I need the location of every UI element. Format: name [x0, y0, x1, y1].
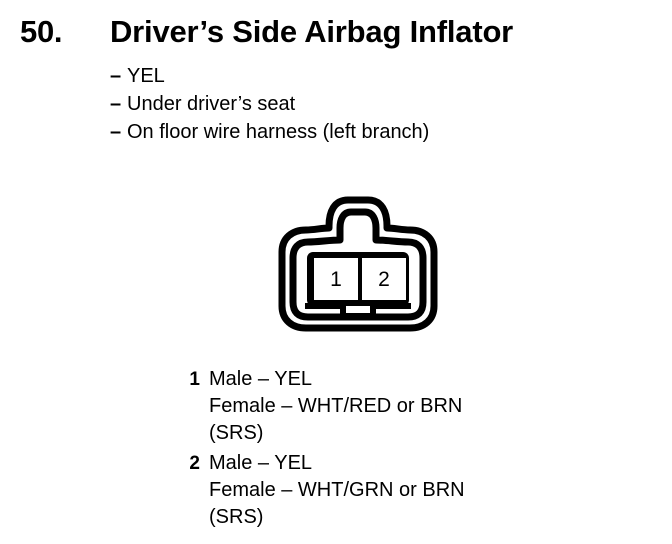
bullet-item: – YEL [110, 62, 630, 90]
page-header: 50. Driver’s Side Airbag Inflator [0, 12, 672, 56]
legend-line-female: Female – WHT/GRN or BRN [209, 477, 642, 504]
pin-number-1: 1 [330, 268, 342, 291]
bullet-item-label: On floor wire harness (left branch) [127, 118, 429, 146]
legend-line-male: Male – YEL [209, 366, 642, 393]
bullet-item: – Under driver’s seat [110, 90, 630, 118]
legend-line-male: Male – YEL [209, 450, 642, 477]
header-item-number: 50. [20, 12, 62, 52]
bullet-item-label: YEL [127, 62, 165, 90]
dash-icon: – [110, 62, 127, 90]
legend-entry: 1 Male – YEL Female – WHT/RED or BRN (SR… [182, 366, 642, 447]
bullet-item-label: Under driver’s seat [127, 90, 295, 118]
bullet-item: – On floor wire harness (left branch) [110, 118, 630, 146]
legend-entry: 2 Male – YEL Female – WHT/GRN or BRN (SR… [182, 450, 642, 531]
pin-legend: 1 Male – YEL Female – WHT/RED or BRN (SR… [182, 366, 642, 534]
connector-diagram: 1 2 [272, 192, 444, 334]
legend-pin-number: 1 [182, 366, 200, 393]
legend-pin-number: 2 [182, 450, 200, 477]
page-title: Driver’s Side Airbag Inflator [110, 12, 513, 52]
dash-icon: – [110, 90, 127, 118]
description-bullet-list: – YEL – Under driver’s seat – On floor w… [110, 62, 630, 146]
legend-line-system: (SRS) [209, 420, 642, 447]
dash-icon: – [110, 118, 127, 146]
pin-number-2: 2 [378, 268, 390, 291]
legend-line-female: Female – WHT/RED or BRN [209, 393, 642, 420]
legend-line-system: (SRS) [209, 504, 642, 531]
